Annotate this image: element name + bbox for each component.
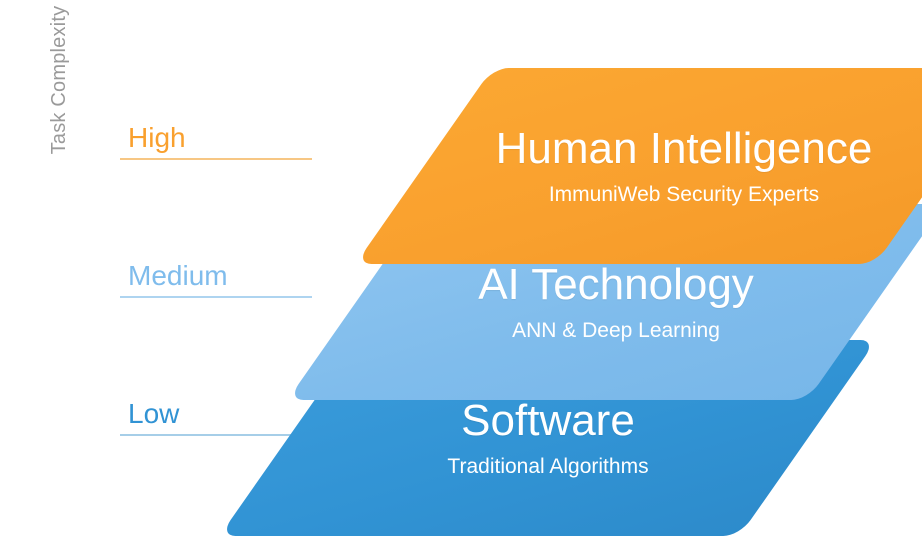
layer-human-subtitle: ImmuniWeb Security Experts	[549, 183, 819, 206]
layer-software-subtitle: Traditional Algorithms	[447, 455, 648, 478]
layer-ai-subtitle: ANN & Deep Learning	[512, 319, 720, 342]
layer-stack: Software Traditional Algorithms AI Techn…	[0, 0, 922, 542]
layer-human-text: Human Intelligence ImmuniWeb Security Ex…	[424, 68, 922, 264]
layered-capability-diagram: Task Complexity High Medium Low Software…	[0, 0, 922, 542]
layer-ai-title: AI Technology	[478, 262, 754, 308]
layer-human-title: Human Intelligence	[496, 126, 873, 172]
layer-human-intelligence: Human Intelligence ImmuniWeb Security Ex…	[355, 68, 922, 264]
layer-software-title: Software	[461, 398, 635, 444]
